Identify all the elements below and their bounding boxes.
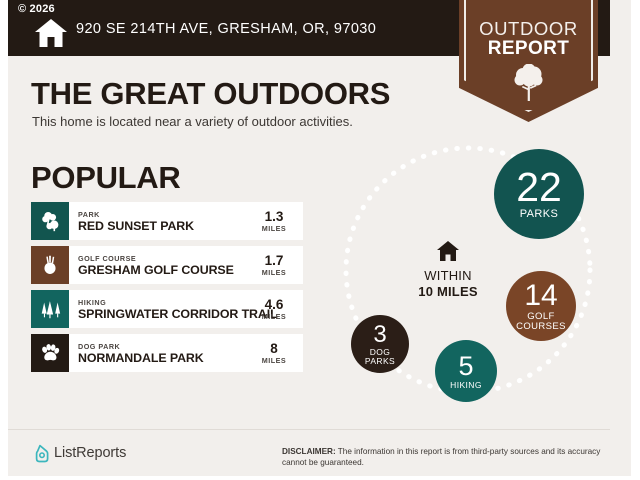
distance-unit: MILES (252, 356, 296, 365)
list-item[interactable]: DOG PARK NORMANDALE PARK 8 MILES (31, 334, 303, 372)
distance-value: 8 (252, 342, 296, 356)
disclaimer-label: DISCLAIMER: (282, 447, 336, 456)
disclaimer: DISCLAIMER: The information in this repo… (282, 446, 612, 468)
popular-section-heading: POPULAR (31, 160, 180, 196)
listreports-brand: ListReports (54, 445, 126, 461)
list-item-text: PARK RED SUNSET PARK (69, 210, 252, 233)
list-item-text: HIKING SPRINGWATER CORRIDOR TRAIL (69, 298, 252, 321)
badge-line-2: REPORT (459, 38, 598, 60)
list-item-text: DOG PARK NORMANDALE PARK (69, 342, 252, 365)
home-icon (436, 240, 460, 262)
bubble-value: 5 (458, 353, 473, 380)
bubble-dog-parks[interactable]: 3 DOG PARKS (351, 315, 409, 373)
bubble-label: PARKS (520, 209, 558, 221)
list-item-category: PARK (78, 210, 252, 219)
list-item-category: GOLF COURSE (78, 254, 252, 263)
list-item-name: RED SUNSET PARK (78, 219, 252, 233)
park-trees-icon (31, 202, 69, 240)
page-frame-bottom (0, 476, 640, 480)
page-frame-right (631, 0, 640, 480)
bubble-value: 3 (373, 323, 386, 347)
list-item-name: NORMANDALE PARK (78, 351, 252, 365)
list-item-category: DOG PARK (78, 342, 252, 351)
page-title: THE GREAT OUTDOORS (31, 76, 390, 112)
badge-line-1: OUTDOOR (459, 18, 598, 40)
bubble-label: DOG PARKS (359, 348, 401, 366)
within-10-miles-bubble-chart: 22 PARKS 14 GOLF COURSES 3 DOG PARKS 5 H… (330, 140, 620, 420)
home-icon (34, 18, 68, 48)
bubble-value: 14 (524, 281, 557, 311)
list-item[interactable]: GOLF COURSE GRESHAM GOLF COURSE 1.7 MILE… (31, 246, 303, 284)
list-item-text: GOLF COURSE GRESHAM GOLF COURSE (69, 254, 252, 277)
list-item-distance: 4.6 MILES (252, 298, 303, 321)
bubble-label: GOLF COURSES (513, 312, 569, 332)
page-subtitle: This home is located near a variety of o… (32, 114, 353, 129)
footer-divider (8, 429, 610, 430)
bubble-value: 22 (516, 167, 562, 208)
distance-unit: MILES (252, 224, 296, 233)
list-item-category: HIKING (78, 298, 252, 307)
bubble-parks[interactable]: 22 PARKS (494, 149, 584, 239)
distance-value: 1.7 (252, 254, 296, 268)
distance-unit: MILES (252, 268, 296, 277)
page-frame-left (0, 0, 8, 480)
chart-center-line-1: WITHIN (392, 268, 504, 283)
tree-icon (513, 64, 545, 102)
list-item-distance: 1.7 MILES (252, 254, 303, 277)
list-item-name: SPRINGWATER CORRIDOR TRAIL (78, 307, 252, 321)
distance-unit: MILES (252, 312, 296, 321)
hiking-pines-icon (31, 290, 69, 328)
list-item[interactable]: HIKING SPRINGWATER CORRIDOR TRAIL 4.6 MI… (31, 290, 303, 328)
bubble-label: HIKING (450, 381, 482, 390)
property-address: 920 SE 214TH AVE, GRESHAM, OR, 97030 (76, 21, 376, 37)
golf-flag-icon (31, 246, 69, 284)
list-item-distance: 8 MILES (252, 342, 303, 365)
distance-value: 1.3 (252, 210, 296, 224)
listreports-house-pin-icon (31, 444, 49, 464)
list-item-name: GRESHAM GOLF COURSE (78, 263, 252, 277)
popular-list: PARK RED SUNSET PARK 1.3 MILES (31, 202, 303, 378)
distance-value: 4.6 (252, 298, 296, 312)
bubble-hiking[interactable]: 5 HIKING (435, 340, 497, 402)
chart-center-line-2: 10 MILES (392, 284, 504, 299)
outdoor-report-page: © 2026 920 SE 214TH AVE, GRESHAM, OR, 97… (0, 0, 640, 480)
paw-print-icon (31, 334, 69, 372)
copyright-text: © 2026 (18, 3, 55, 15)
list-item[interactable]: PARK RED SUNSET PARK 1.3 MILES (31, 202, 303, 240)
list-item-distance: 1.3 MILES (252, 210, 303, 233)
bubble-golf-courses[interactable]: 14 GOLF COURSES (506, 271, 576, 341)
